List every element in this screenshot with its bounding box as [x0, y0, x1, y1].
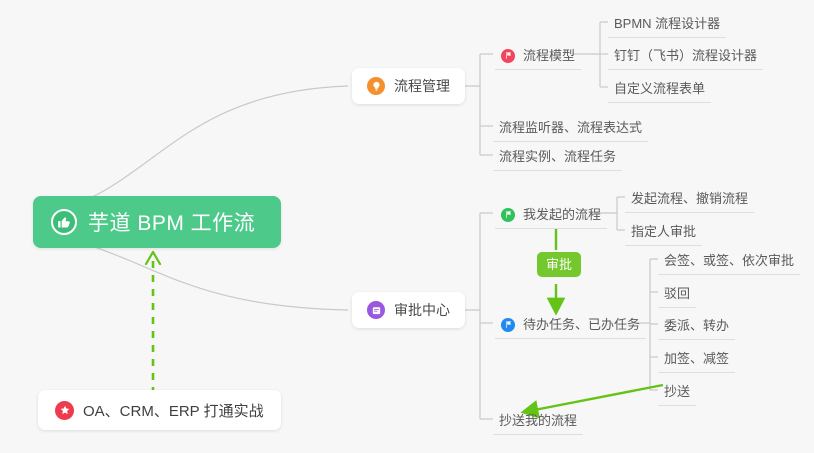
node-label-my-initiated-processes: 我发起的流程	[523, 206, 601, 223]
node-cc-to-me-processes[interactable]: 抄送我的流程	[493, 409, 583, 435]
node-process-model[interactable]: 流程模型	[495, 44, 581, 70]
branch-node-process-management[interactable]: 流程管理	[352, 68, 465, 104]
node-reject[interactable]: 驳回	[658, 282, 696, 308]
flag-green-icon	[501, 208, 515, 222]
node-countersign-orsign-sequential[interactable]: 会签、或签、依次审批	[658, 249, 800, 275]
node-label-process-model: 流程模型	[523, 47, 575, 64]
node-my-initiated-processes[interactable]: 我发起的流程	[495, 203, 607, 229]
node-delegate-transfer[interactable]: 委派、转办	[658, 314, 735, 340]
floating-node-integration-practice[interactable]: OA、CRM、ERP 打通实战	[38, 390, 281, 430]
floating-label-integration-practice: OA、CRM、ERP 打通实战	[83, 400, 264, 421]
branch-node-approval-center[interactable]: 审批中心	[352, 292, 465, 328]
flag-red-icon	[501, 49, 515, 63]
calendar-purple-icon	[367, 301, 385, 319]
star-red-icon	[55, 401, 74, 420]
node-start-cancel-process[interactable]: 发起流程、撤销流程	[625, 187, 754, 213]
node-custom-process-form[interactable]: 自定义流程表单	[608, 77, 711, 103]
root-node[interactable]: 芋道 BPM 工作流	[33, 196, 281, 248]
node-process-instance-task[interactable]: 流程实例、流程任务	[493, 145, 622, 171]
node-todo-done-tasks[interactable]: 待办任务、已办任务	[495, 313, 646, 339]
node-process-listener-expression[interactable]: 流程监听器、流程表达式	[493, 116, 648, 142]
root-label: 芋道 BPM 工作流	[88, 207, 255, 237]
mindmap-canvas: 芋道 BPM 工作流 流程管理 流程模型 BPMN 流程设计器 钉钉（飞书）流程…	[0, 0, 814, 453]
branch-label-process-management: 流程管理	[394, 76, 450, 96]
thumbs-up-icon	[51, 209, 77, 235]
node-assignee-approval[interactable]: 指定人审批	[625, 220, 702, 246]
node-label-todo-done-tasks: 待办任务、已办任务	[523, 316, 640, 333]
approve-badge[interactable]: 审批	[537, 252, 581, 277]
node-cc[interactable]: 抄送	[658, 380, 696, 406]
node-bpmn-designer[interactable]: BPMN 流程设计器	[608, 12, 726, 38]
lightbulb-icon	[367, 77, 385, 95]
node-dingtalk-feishu-designer[interactable]: 钉钉（飞书）流程设计器	[608, 44, 763, 70]
branch-label-approval-center: 审批中心	[394, 300, 450, 320]
node-add-remove-sign[interactable]: 加签、减签	[658, 347, 735, 373]
flag-blue-icon	[501, 318, 515, 332]
integration-dashed-arrow	[138, 244, 168, 394]
